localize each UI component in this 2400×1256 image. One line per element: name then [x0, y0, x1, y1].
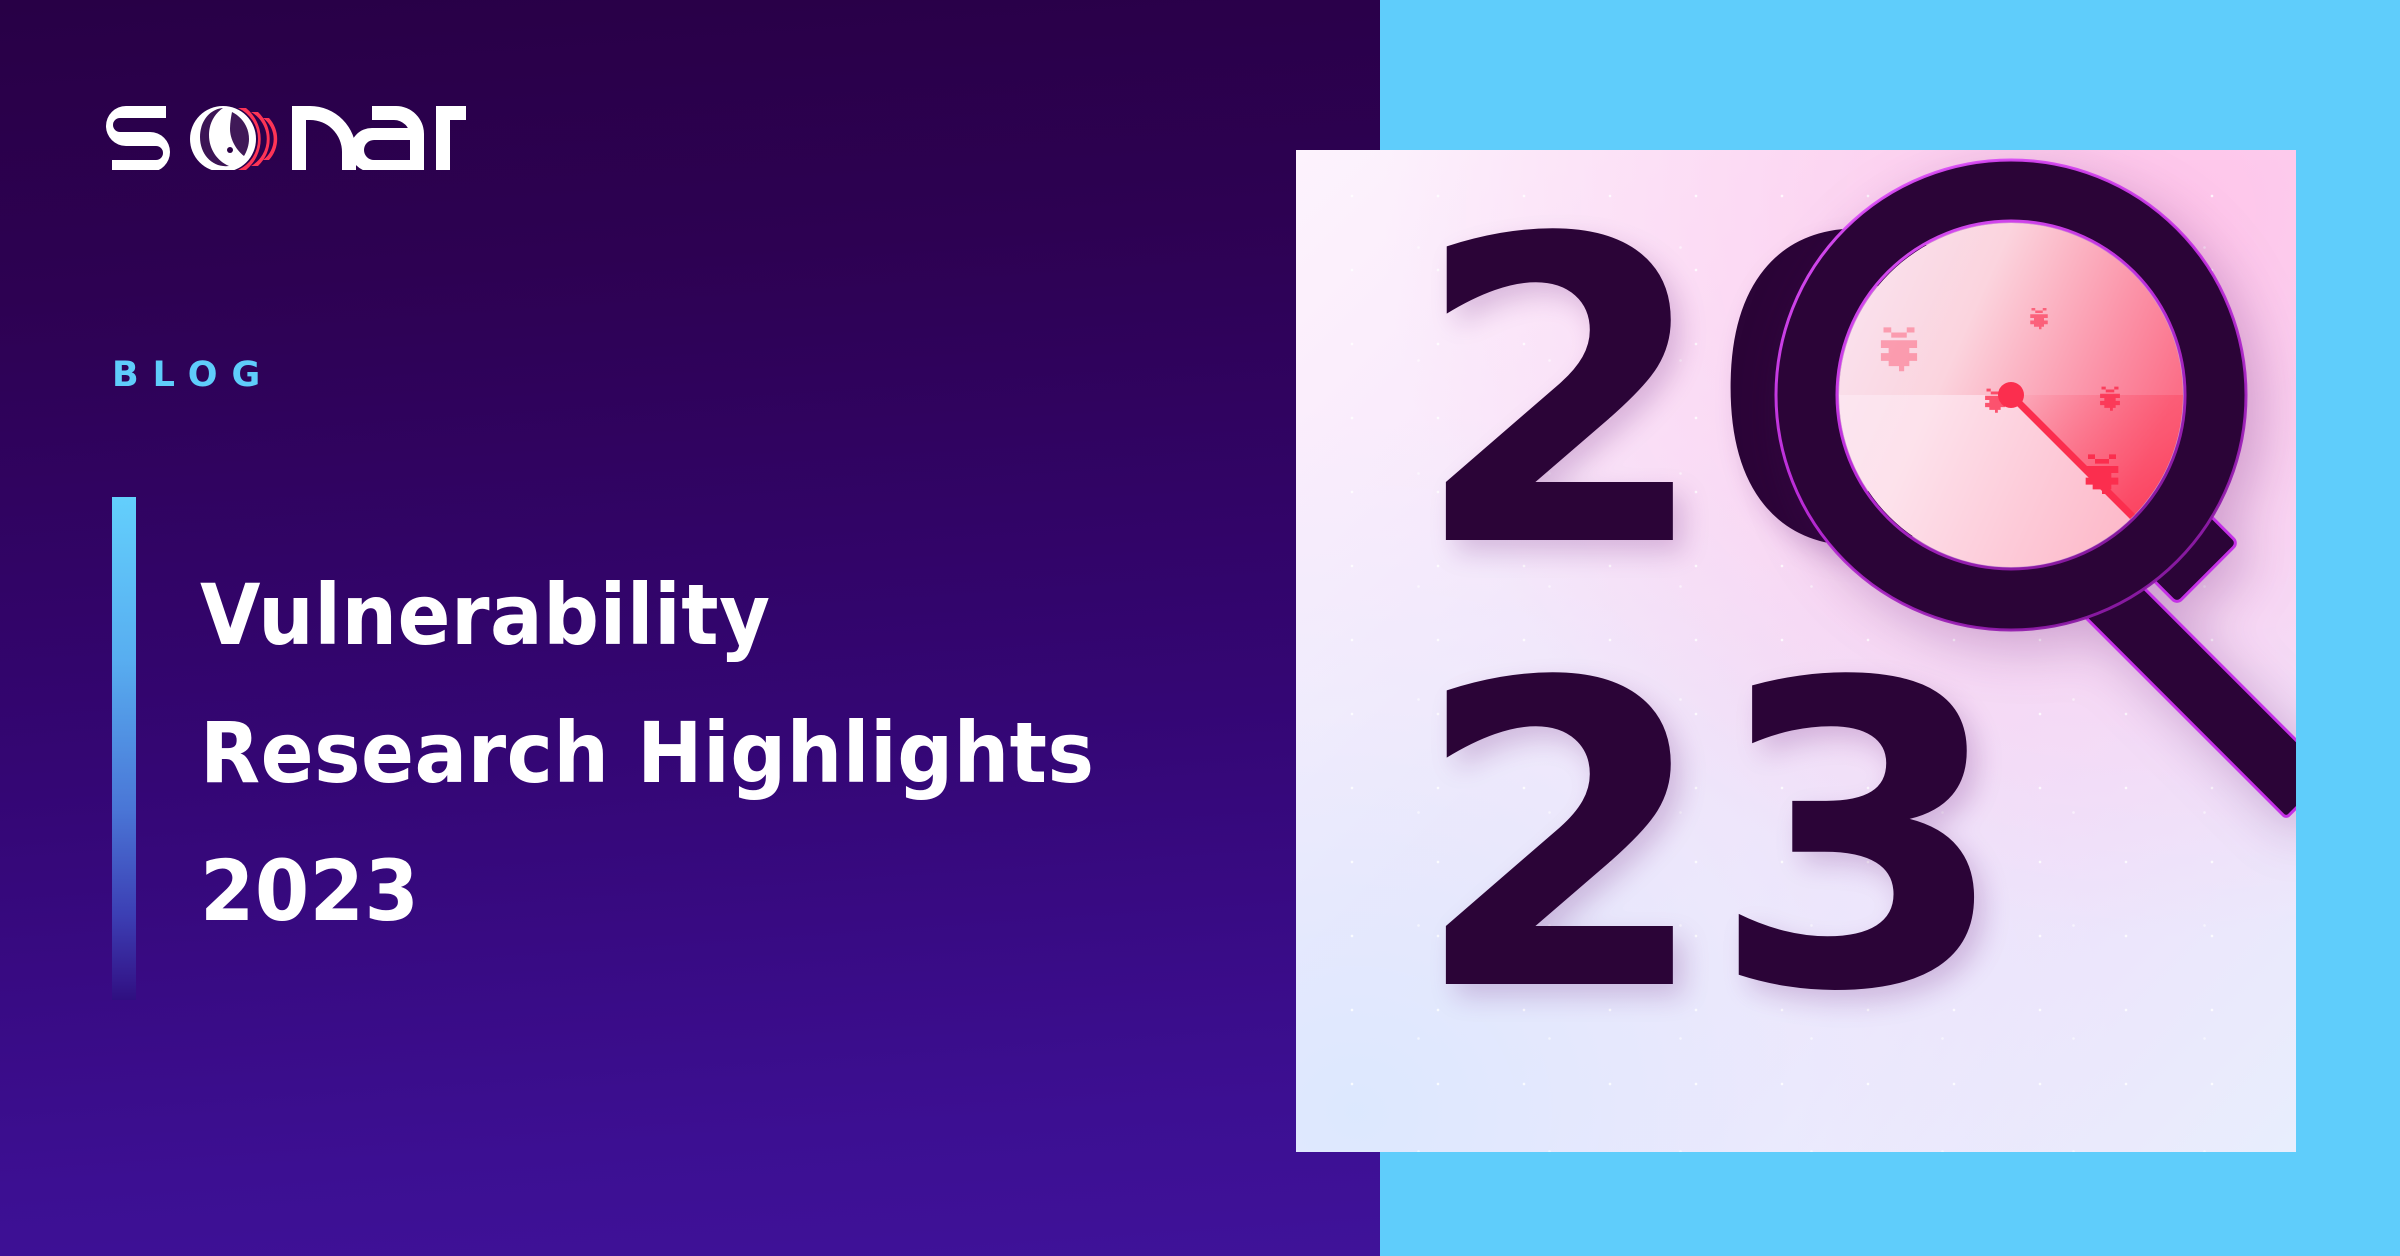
magnifying-glass-icon	[1766, 150, 2296, 775]
gauge-hub	[1998, 382, 2024, 408]
blog-kicker-label: BLOG	[112, 355, 274, 395]
page-title: Vulnerability Research Highlights 2023	[200, 546, 1177, 960]
magnifier-lens	[1839, 223, 2183, 568]
gradient-accent-bar	[112, 497, 136, 1000]
hero-illustration-card: 20 23	[1296, 150, 2296, 1152]
poster-canvas: BLOG Vulnerability Research Highlights 2…	[0, 0, 2400, 1256]
sonar-logo[interactable]	[106, 92, 466, 170]
sonar-wordmark-icon	[106, 92, 466, 170]
